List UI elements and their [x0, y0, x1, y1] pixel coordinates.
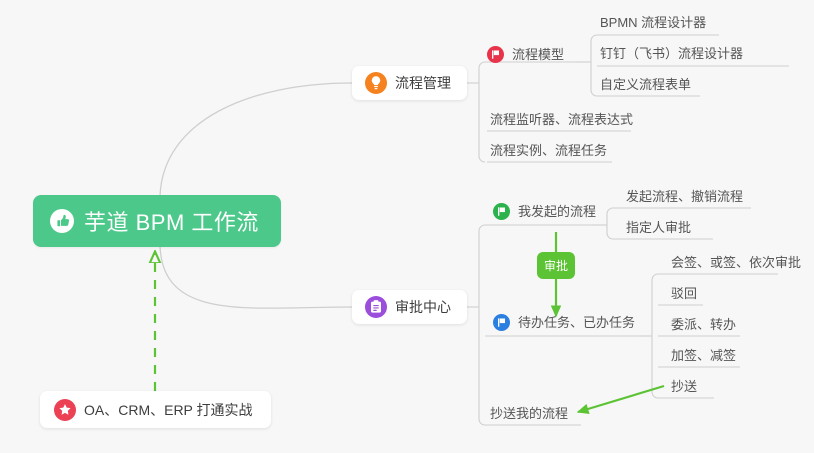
connector-todo-done-bracket — [652, 274, 658, 398]
leaf-reject-label: 驳回 — [671, 286, 697, 302]
branch-node-process-management-label: 流程管理 — [395, 73, 451, 93]
leaf-cc-to-me[interactable]: 抄送我的流程 — [490, 406, 568, 422]
thumbs-up-icon — [50, 209, 74, 233]
leaf-custom-form[interactable]: 自定义流程表单 — [600, 77, 691, 93]
leaf-cc[interactable]: 抄送 — [671, 379, 697, 395]
leaf-delegate-transfer-label: 委派、转办 — [671, 317, 736, 333]
leaf-reject[interactable]: 驳回 — [671, 286, 697, 302]
leaf-todo-done-tasks-label: 待办任务、已办任务 — [518, 315, 635, 331]
leaf-delegate-transfer[interactable]: 委派、转办 — [671, 317, 736, 333]
leaf-countersign-label: 会签、或签、依次审批 — [671, 255, 801, 271]
connector-root-to-process-management — [160, 83, 352, 196]
leaf-process-model-label: 流程模型 — [512, 47, 564, 63]
connector-root-to-approval-center — [160, 246, 352, 308]
leaf-start-cancel-process[interactable]: 发起流程、撤销流程 — [626, 189, 743, 205]
leaf-my-initiated-label: 我发起的流程 — [518, 204, 596, 220]
leaf-dingtalk-designer[interactable]: 钉钉（飞书）流程设计器 — [600, 46, 743, 62]
leaf-process-model[interactable]: 流程模型 — [487, 46, 564, 63]
leaf-assignee-approval-label: 指定人审批 — [626, 220, 691, 236]
leaf-todo-done-tasks[interactable]: 待办任务、已办任务 — [493, 314, 635, 331]
connector-my-initiated-bracket — [607, 208, 613, 239]
lightbulb-icon — [365, 72, 387, 94]
leaf-bpmn-designer[interactable]: BPMN 流程设计器 — [600, 15, 706, 31]
branch-node-approval-center[interactable]: 审批中心 — [352, 290, 467, 324]
star-icon — [54, 399, 76, 421]
flag-icon — [487, 46, 504, 63]
annotation-card-integration-label: OA、CRM、ERP 打通实战 — [84, 400, 253, 420]
annotation-card-integration[interactable]: OA、CRM、ERP 打通实战 — [40, 391, 271, 428]
leaf-cc-label: 抄送 — [671, 379, 697, 395]
leaf-custom-form-label: 自定义流程表单 — [600, 77, 691, 93]
leaf-start-cancel-process-label: 发起流程、撤销流程 — [626, 189, 743, 205]
leaf-bpmn-designer-label: BPMN 流程设计器 — [600, 15, 706, 31]
root-node-label: 芋道 BPM 工作流 — [84, 205, 259, 237]
leaf-dingtalk-designer-label: 钉钉（飞书）流程设计器 — [600, 46, 743, 62]
leaf-add-remove-sign[interactable]: 加签、减签 — [671, 348, 736, 364]
branch-node-approval-center-label: 审批中心 — [395, 297, 451, 317]
connector-cc-to-cc-to-me — [578, 386, 664, 412]
flag-icon — [493, 203, 510, 220]
annotation-chip-approval: 审批 — [537, 252, 575, 279]
connector-approval-center-bracket — [479, 225, 485, 425]
connector-process-management-bracket — [479, 62, 485, 162]
leaf-cc-to-me-label: 抄送我的流程 — [490, 406, 568, 422]
leaf-my-initiated[interactable]: 我发起的流程 — [493, 203, 596, 220]
leaf-process-listener[interactable]: 流程监听器、流程表达式 — [490, 112, 633, 128]
leaf-assignee-approval[interactable]: 指定人审批 — [626, 220, 691, 236]
clipboard-icon — [365, 296, 387, 318]
leaf-process-instance-label: 流程实例、流程任务 — [490, 143, 607, 159]
flag-icon — [493, 314, 510, 331]
connector-process-model-bracket — [591, 35, 597, 96]
mindmap-canvas: 芋道 BPM 工作流 流程管理 流程模型 BPMN 流程设计器 钉钉（飞书）流程… — [0, 0, 814, 453]
leaf-process-instance[interactable]: 流程实例、流程任务 — [490, 143, 607, 159]
root-node[interactable]: 芋道 BPM 工作流 — [33, 195, 281, 247]
branch-node-process-management[interactable]: 流程管理 — [352, 66, 467, 100]
leaf-countersign[interactable]: 会签、或签、依次审批 — [671, 255, 801, 271]
leaf-add-remove-sign-label: 加签、减签 — [671, 348, 736, 364]
annotation-chip-approval-label: 审批 — [544, 260, 568, 272]
leaf-process-listener-label: 流程监听器、流程表达式 — [490, 112, 633, 128]
